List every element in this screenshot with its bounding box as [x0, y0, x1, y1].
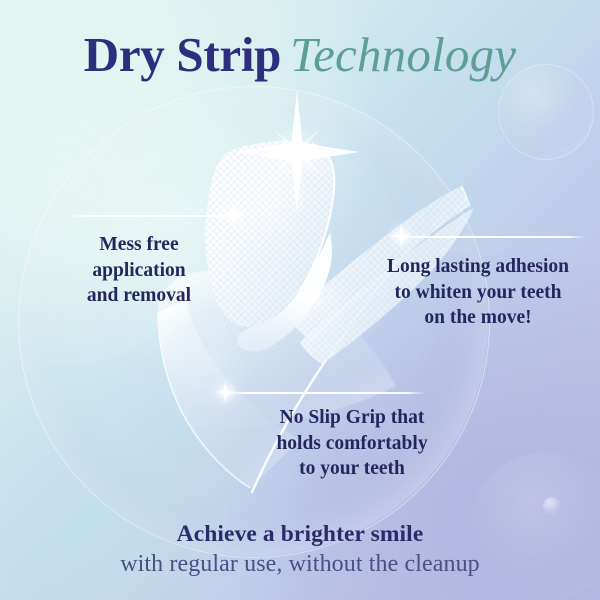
callout-line: No Slip Grip that	[243, 405, 461, 431]
title-strong-text: Dry Strip	[84, 27, 281, 82]
callout-no-slip-grip: No Slip Grip that holds comfortably to y…	[243, 405, 461, 482]
callout-line: on the move!	[370, 305, 586, 331]
callout-line: to whiten your teeth	[370, 280, 586, 306]
page-title: Dry StripTechnology	[0, 28, 600, 83]
product-feature-poster: Dry StripTechnology Mess free applicatio…	[0, 0, 600, 600]
leader-line-no-slip-grip	[228, 392, 426, 394]
callout-line: to your teeth	[243, 456, 461, 482]
callout-long-lasting: Long lasting adhesion to whiten your tee…	[370, 254, 586, 331]
leader-node-long-lasting	[398, 233, 405, 240]
tagline-primary: Achieve a brighter smile	[0, 519, 600, 549]
callout-line: holds comfortably	[243, 431, 461, 457]
leader-node-mess-free	[231, 212, 238, 219]
callout-mess-free: Mess free application and removal	[36, 232, 242, 309]
callout-line: application	[36, 258, 242, 284]
tagline: Achieve a brighter smile with regular us…	[0, 519, 600, 580]
leader-line-mess-free	[66, 215, 238, 217]
title-emphasis-text: Technology	[290, 27, 516, 82]
tagline-secondary: with regular use, without the cleanup	[0, 549, 600, 580]
callout-line: and removal	[36, 283, 242, 309]
callout-line: Long lasting adhesion	[370, 254, 586, 280]
leader-line-long-lasting	[404, 236, 586, 238]
leader-node-no-slip-grip	[222, 389, 229, 396]
callout-line: Mess free	[36, 232, 242, 258]
